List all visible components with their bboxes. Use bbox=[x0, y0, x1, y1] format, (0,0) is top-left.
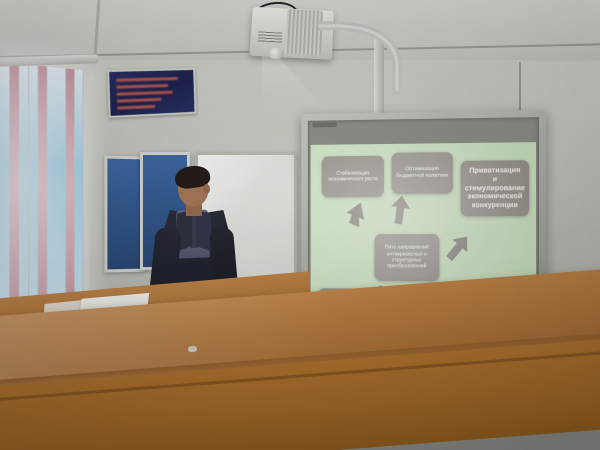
slide-node-center: Пять направленийантикризисных иструктурн… bbox=[374, 234, 439, 281]
presenter-ear bbox=[203, 184, 210, 194]
slide-node-stabilization-label: Стабилизацияэкономического роста bbox=[328, 170, 378, 182]
slide-node-budget-label: Оптимизациябюджетной политики bbox=[396, 166, 448, 179]
plaque-text-line bbox=[117, 98, 161, 103]
slide-node-privatization-label: Приватизацияи стимулированиеэкономическо… bbox=[465, 166, 526, 210]
projector-label bbox=[258, 31, 282, 42]
projector-arm-curve bbox=[318, 16, 404, 96]
slide-node-privatization: Приватизацияи стимулированиеэкономическо… bbox=[461, 160, 530, 216]
slide-node-stabilization: Стабилизацияэкономического роста bbox=[322, 156, 384, 197]
plaque-text-line bbox=[116, 77, 177, 82]
slide-node-center-label: Пять направленийантикризисных иструктурн… bbox=[385, 245, 429, 270]
plaque-text-line bbox=[117, 105, 155, 110]
arrow-to-budget bbox=[390, 195, 411, 226]
plaque-text-line bbox=[117, 91, 173, 96]
slide-node-budget: Оптимизациябюджетной политики bbox=[392, 152, 453, 194]
arrow-to-stabilization bbox=[346, 199, 367, 228]
plaque-text-line bbox=[117, 84, 168, 89]
arrow-to-privatization bbox=[443, 234, 472, 260]
smartboard-brand-logo bbox=[312, 122, 336, 127]
wall-plaque bbox=[107, 68, 196, 118]
classroom-photo-scene: Стабилизацияэкономического роста Оптимиз… bbox=[0, 0, 600, 450]
